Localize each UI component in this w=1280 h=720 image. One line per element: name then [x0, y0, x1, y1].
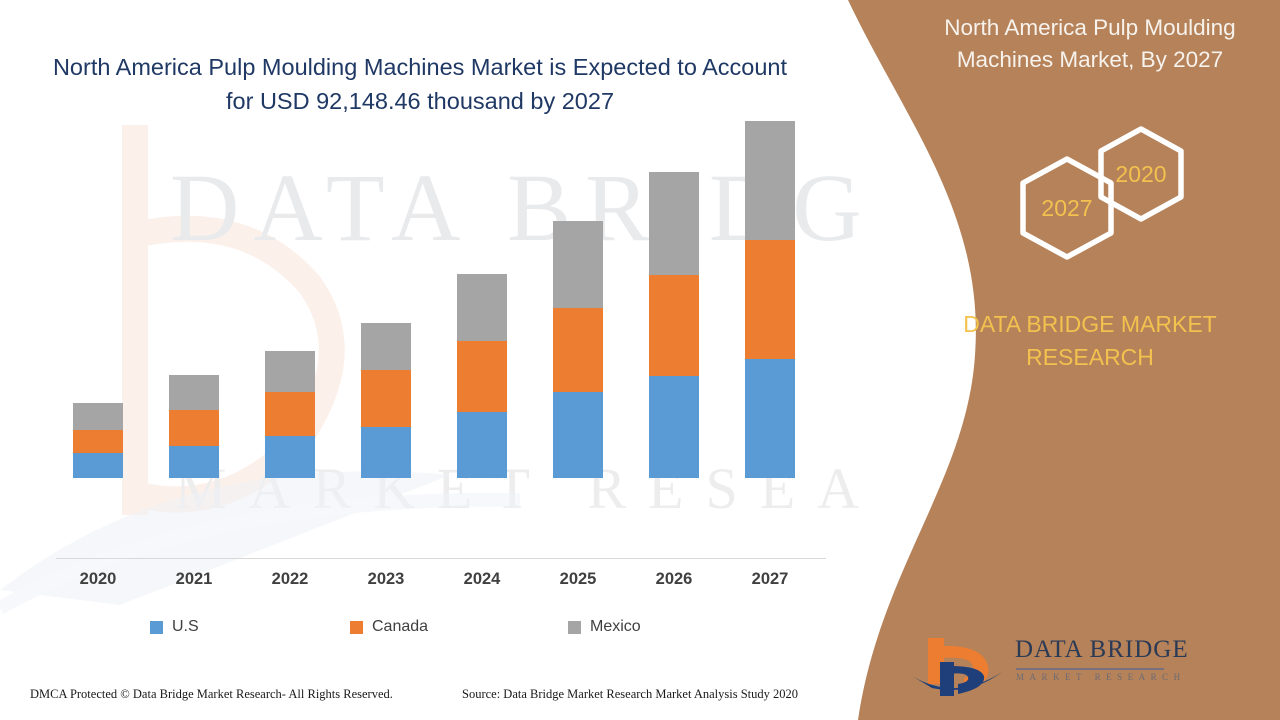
x-tick-2025: 2025 [538, 570, 618, 589]
x-tick-2024: 2024 [442, 570, 522, 589]
bar-segment-canada [649, 275, 699, 376]
stacked-bar-chart: 2020 2021 2022 2023 2024 2025 2026 2027 [0, 0, 860, 640]
x-tick-2022: 2022 [250, 570, 330, 589]
hexagon-label-2027: 2027 [1037, 195, 1097, 222]
bar-2027[interactable] [745, 121, 795, 478]
bar-segment-canada [265, 392, 315, 436]
bar-segment-mexico [169, 375, 219, 410]
x-tick-2027: 2027 [730, 570, 810, 589]
bar-segment-us [361, 427, 411, 478]
legend-item-mexico[interactable]: Mexico [568, 618, 748, 636]
bar-segment-mexico [265, 351, 315, 392]
copyright-notice: DMCA Protected © Data Bridge Market Rese… [30, 687, 393, 702]
x-tick-2026: 2026 [634, 570, 714, 589]
logo-divider [1016, 668, 1164, 670]
brand-subtitle: DATA BRIDGE MARKET RESEARCH [900, 308, 1280, 373]
bar-segment-us [745, 359, 795, 478]
bar-segment-us [649, 376, 699, 478]
infographic-canvas: DATA BRIDGE MARKET RESEARCH North Americ… [0, 0, 1280, 720]
bar-segment-canada [745, 240, 795, 359]
hexagon-group: 2027 2020 [975, 125, 1225, 295]
bar-segment-canada [73, 430, 123, 453]
x-tick-2021: 2021 [154, 570, 234, 589]
legend-label-mexico: Mexico [590, 618, 641, 636]
bar-2020[interactable] [73, 403, 123, 478]
bar-2021[interactable] [169, 375, 219, 478]
bar-segment-mexico [361, 323, 411, 370]
bar-segment-us [265, 436, 315, 478]
bar-segment-canada [553, 308, 603, 392]
bar-segment-canada [169, 410, 219, 446]
x-tick-2023: 2023 [346, 570, 426, 589]
legend-label-canada: Canada [372, 618, 428, 636]
legend-label-us: U.S [172, 618, 199, 636]
bar-segment-canada [361, 370, 411, 427]
bar-segment-mexico [553, 221, 603, 308]
bar-2022[interactable] [265, 351, 315, 478]
logo-tagline: MARKET RESEARCH [1016, 672, 1186, 682]
source-note: Source: Data Bridge Market Research Mark… [462, 687, 798, 702]
bar-segment-us [169, 446, 219, 478]
logo-wordmark: DATA BRIDGE [1015, 636, 1189, 664]
bar-2023[interactable] [361, 323, 411, 478]
bar-2026[interactable] [649, 172, 699, 478]
hexagon-label-2020: 2020 [1111, 161, 1171, 188]
legend-swatch-us-icon [150, 621, 163, 634]
bar-segment-us [457, 412, 507, 478]
legend-item-us[interactable]: U.S [150, 618, 350, 636]
x-axis-line [56, 558, 826, 559]
bar-2024[interactable] [457, 274, 507, 478]
x-tick-2020: 2020 [58, 570, 138, 589]
bar-segment-canada [457, 341, 507, 412]
hexagon-outlines-icon [975, 125, 1225, 295]
bar-segment-us [73, 453, 123, 478]
data-bridge-mark-icon [910, 632, 1010, 702]
bar-segment-us [553, 392, 603, 478]
bar-segment-mexico [649, 172, 699, 275]
legend-swatch-mexico-icon [568, 621, 581, 634]
legend-swatch-canada-icon [350, 621, 363, 634]
legend-item-canada[interactable]: Canada [350, 618, 568, 636]
data-bridge-logo: DATA BRIDGE MARKET RESEARCH [910, 632, 1270, 702]
bar-segment-mexico [745, 121, 795, 240]
bar-2025[interactable] [553, 221, 603, 478]
bar-segment-mexico [73, 403, 123, 430]
panel-title: North America Pulp Moulding Machines Mar… [910, 12, 1270, 76]
brand-panel-content: North America Pulp Moulding Machines Mar… [900, 0, 1280, 720]
chart-legend: U.S Canada Mexico [150, 618, 750, 636]
bar-segment-mexico [457, 274, 507, 341]
